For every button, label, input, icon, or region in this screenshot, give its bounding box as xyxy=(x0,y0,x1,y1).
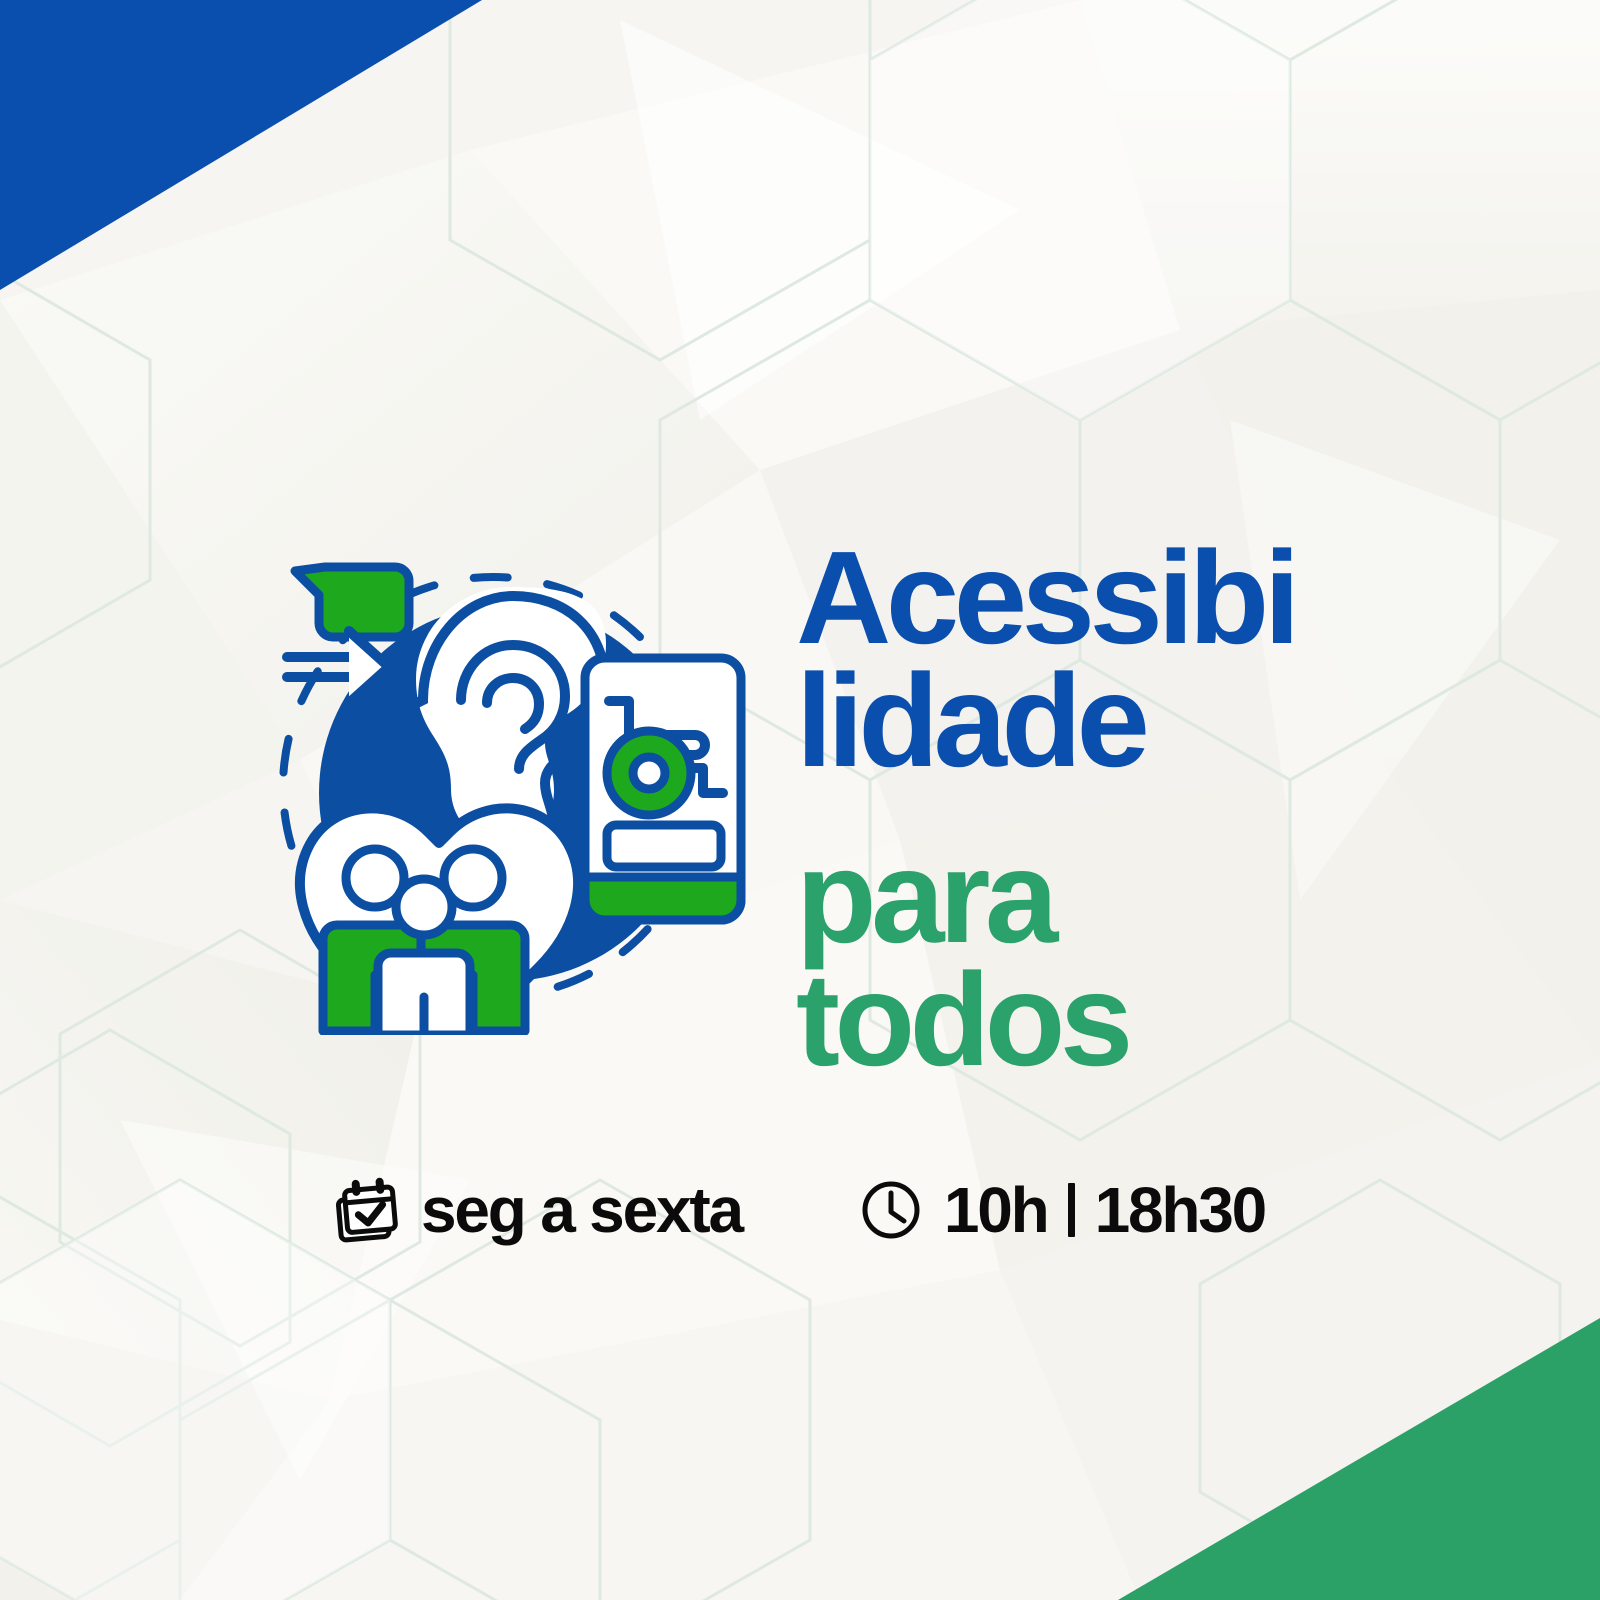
time-group: 10h 18h30 xyxy=(860,1178,1265,1242)
days-label: seg a sexta xyxy=(421,1178,742,1242)
speech-bubble-icon xyxy=(295,567,409,637)
headline-line-4: todos xyxy=(796,958,1516,1081)
accessibility-illustration xyxy=(255,525,755,1035)
time-separator-bar xyxy=(1068,1183,1075,1237)
calendar-check-icon xyxy=(335,1176,399,1244)
phone-textfield xyxy=(607,825,721,867)
headline-line-2: lidade xyxy=(796,659,1516,782)
headline-block: Acessibi lidade para todos xyxy=(796,536,1516,1082)
days-group: seg a sexta xyxy=(335,1176,742,1244)
time-range: 10h 18h30 xyxy=(944,1178,1265,1242)
smartphone-icon xyxy=(585,658,741,920)
headline-line-3: para xyxy=(796,835,1516,958)
info-bar: seg a sexta 10h 18h30 xyxy=(0,1176,1600,1244)
wheel-hub xyxy=(633,757,665,789)
clock-icon xyxy=(860,1179,922,1241)
time-close: 18h30 xyxy=(1095,1178,1265,1242)
headline-line-1: Acessibi xyxy=(796,536,1516,659)
time-open: 10h xyxy=(944,1178,1048,1242)
poster-canvas: Acessibi lidade para todos seg a sexta xyxy=(0,0,1600,1600)
heart-people-group xyxy=(300,808,578,1035)
